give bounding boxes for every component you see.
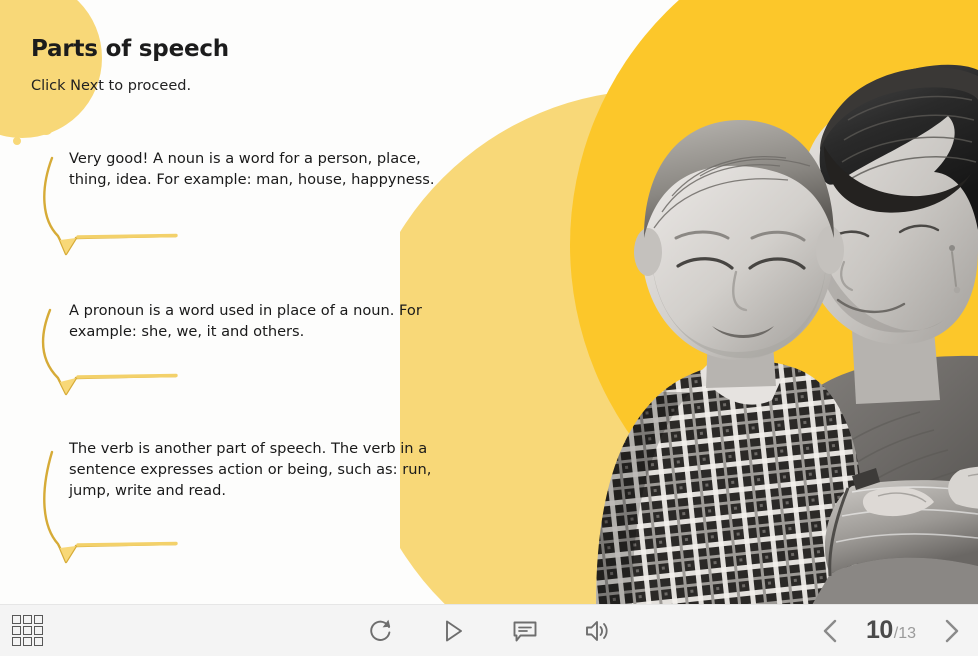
speech-bubble-text: Very good! A noun is a word for a person… [69, 148, 454, 190]
player-toolbar: 10 /13 [0, 604, 978, 656]
decorative-dot-small [13, 137, 21, 145]
artwork-photo [400, 0, 978, 605]
page-current: 10 [866, 616, 893, 645]
decorative-dot-large [16, 113, 35, 132]
replay-icon[interactable] [364, 614, 398, 648]
play-icon[interactable] [436, 614, 470, 648]
speech-bubble-text: A pronoun is a word used in place of a n… [69, 300, 454, 342]
page-navigation: 10 /13 [816, 605, 966, 656]
chevron-right-icon[interactable] [936, 614, 966, 648]
comment-icon[interactable] [508, 614, 542, 648]
page-counter: 10 /13 [860, 616, 922, 645]
volume-icon[interactable] [580, 614, 614, 648]
slide-canvas: Parts of speech Click Next to proceed. [0, 0, 978, 656]
grid-3x3-icon[interactable] [12, 615, 43, 646]
speech-bubble-text: The verb is another part of speech. The … [69, 438, 454, 501]
page-title: Parts of speech [31, 36, 229, 62]
decorative-dot-medium [39, 121, 53, 135]
page-subtitle: Click Next to proceed. [31, 78, 191, 94]
chevron-left-icon[interactable] [816, 614, 846, 648]
decorative-circle-large [0, 0, 102, 138]
page-total: /13 [894, 625, 916, 643]
